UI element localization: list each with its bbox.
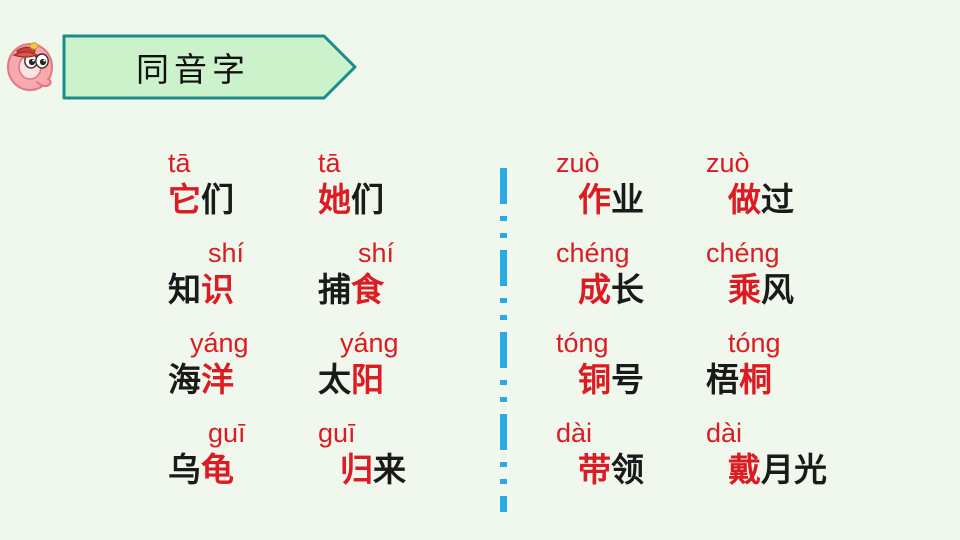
highlighted-character: 作	[578, 180, 611, 219]
highlighted-character: 归	[340, 450, 373, 489]
word-characters: 乘风	[728, 270, 881, 316]
plain-character: 领	[611, 450, 644, 489]
highlighted-character: 龟	[201, 450, 234, 489]
pinyin-label: chéng	[556, 238, 731, 270]
word-entry: guī归来	[318, 418, 493, 508]
word-entry: dài戴月光	[706, 418, 881, 508]
word-entry: shí捕食	[318, 238, 493, 328]
word-entry: tā她们	[318, 148, 493, 238]
word-characters: 太阳	[318, 360, 493, 406]
pinyin-label: yáng	[340, 328, 493, 360]
plain-character: 来	[373, 450, 406, 489]
plain-character: 业	[611, 180, 644, 219]
title-bar: 同音字	[0, 30, 380, 105]
pinyin-label: tā	[318, 148, 493, 180]
word-characters: 知识	[168, 270, 343, 316]
word-entry: shí知识	[168, 238, 343, 328]
column-divider	[500, 168, 507, 512]
word-characters: 她们	[318, 180, 493, 226]
highlighted-character: 乘	[728, 270, 761, 309]
word-entry: guī乌龟	[168, 418, 343, 508]
plain-character: 长	[611, 270, 644, 309]
section-banner: 同音字	[62, 34, 358, 100]
word-entry: yáng海洋	[168, 328, 343, 418]
highlighted-character: 带	[578, 450, 611, 489]
highlighted-character: 桐	[739, 360, 772, 399]
plain-character: 风	[761, 270, 794, 309]
highlighted-character: 成	[578, 270, 611, 309]
plain-character: 月	[761, 450, 794, 489]
word-entry: dài带领	[556, 418, 731, 508]
highlighted-character: 铜	[578, 360, 611, 399]
word-characters: 归来	[340, 450, 493, 496]
pinyin-label: chéng	[706, 238, 881, 270]
highlighted-character: 做	[728, 180, 761, 219]
highlighted-character: 洋	[201, 360, 234, 399]
word-characters: 捕食	[318, 270, 493, 316]
pinyin-label: zuò	[556, 148, 731, 180]
word-column-3: zuò作业chéng成长tóng铜号dài带领	[556, 148, 731, 508]
plain-character: 们	[351, 180, 384, 219]
word-characters: 做过	[728, 180, 881, 226]
pinyin-label: shí	[358, 238, 493, 270]
word-entry: zuò做过	[706, 148, 881, 238]
word-column-4: zuò做过chéng乘风tóng梧桐dài戴月光	[706, 148, 881, 508]
highlighted-character: 阳	[351, 360, 384, 399]
word-characters: 海洋	[168, 360, 343, 406]
plain-character: 过	[761, 180, 794, 219]
plain-character: 知	[168, 270, 201, 309]
word-entry: tóng梧桐	[706, 328, 881, 418]
pinyin-label: guī	[318, 418, 493, 450]
pinyin-label: dài	[556, 418, 731, 450]
plain-character: 们	[201, 180, 234, 219]
highlighted-character: 它	[168, 180, 201, 219]
highlighted-character: 食	[351, 270, 384, 309]
word-characters: 乌龟	[168, 450, 343, 496]
pinyin-label: zuò	[706, 148, 881, 180]
word-characters: 梧桐	[706, 360, 881, 406]
plain-character: 太	[318, 360, 351, 399]
highlighted-character: 她	[318, 180, 351, 219]
pinyin-label: dài	[706, 418, 881, 450]
plain-character: 海	[168, 360, 201, 399]
plain-character: 号	[611, 360, 644, 399]
word-characters: 它们	[168, 180, 343, 226]
word-column-1: tā它们shí知识yáng海洋guī乌龟	[168, 148, 343, 508]
pinyin-label: tóng	[728, 328, 881, 360]
page-title: 同音字	[62, 34, 358, 100]
q-mascot-icon	[4, 34, 58, 96]
word-entry: zuò作业	[556, 148, 731, 238]
plain-character: 捕	[318, 270, 351, 309]
word-characters: 戴月光	[728, 450, 881, 496]
pinyin-label: tā	[168, 148, 343, 180]
pinyin-label: tóng	[556, 328, 731, 360]
plain-character: 梧	[706, 360, 739, 399]
word-entry: tóng铜号	[556, 328, 731, 418]
plain-character: 乌	[168, 450, 201, 489]
word-column-2: tā她们shí捕食yáng太阳guī归来	[318, 148, 493, 508]
plain-character: 光	[794, 450, 827, 489]
highlighted-character: 戴	[728, 450, 761, 489]
word-entry: yáng太阳	[318, 328, 493, 418]
word-entry: chéng乘风	[706, 238, 881, 328]
highlighted-character: 识	[201, 270, 234, 309]
word-entry: chéng成长	[556, 238, 731, 328]
word-entry: tā它们	[168, 148, 343, 238]
